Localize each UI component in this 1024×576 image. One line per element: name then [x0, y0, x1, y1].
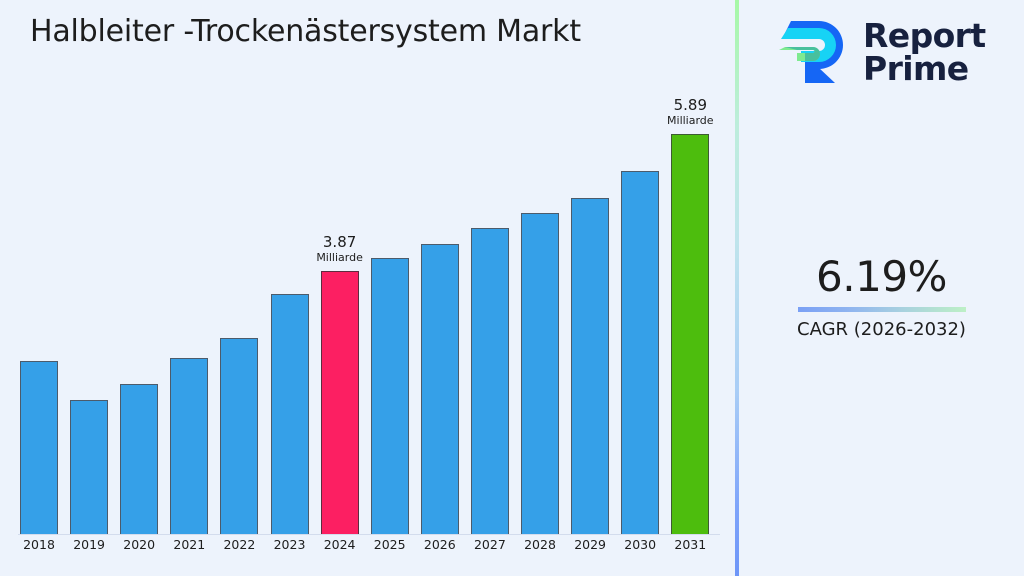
bar-value-callout-2024: 3.87Milliarde [316, 233, 363, 265]
bar-2031[interactable] [671, 134, 709, 534]
bar-unit-2024: Milliarde [316, 251, 363, 265]
bar-2029[interactable] [571, 198, 609, 534]
bar-2027[interactable] [471, 228, 509, 534]
bar-unit-2031: Milliarde [667, 114, 714, 128]
bar-column-2025[interactable] [371, 113, 409, 534]
brand-panel: Report Prime 6.19% CAGR (2026-2032) [739, 0, 1024, 576]
bar-column-2023[interactable] [271, 113, 309, 534]
bar-value-2024: 3.87 [316, 233, 363, 251]
x-tick-2029: 2029 [574, 536, 606, 554]
bar-chart-plot-area: 3.87Milliarde5.89Milliarde [0, 110, 737, 535]
cagr-block: 6.19% CAGR (2026-2032) [739, 252, 1024, 342]
brand-name: Report Prime [863, 19, 986, 85]
bar-2026[interactable] [421, 244, 459, 534]
cagr-label: CAGR (2026-2032) [739, 318, 1024, 342]
x-tick-2023: 2023 [274, 536, 306, 554]
chart-infographic: Halbleiter -Trockenästersystem Markt 3.8… [0, 0, 1024, 576]
bar-column-2028[interactable] [521, 113, 559, 534]
x-tick-2018: 2018 [23, 536, 55, 554]
x-tick-2020: 2020 [123, 536, 155, 554]
bar-value-callout-2031: 5.89Milliarde [667, 96, 714, 128]
x-tick-2025: 2025 [374, 536, 406, 554]
x-tick-2024: 2024 [324, 536, 356, 554]
bar-column-2020[interactable] [120, 113, 158, 534]
x-tick-2028: 2028 [524, 536, 556, 554]
bar-value-2031: 5.89 [667, 96, 714, 114]
report-prime-r-mark-icon [775, 15, 851, 89]
bar-2024[interactable] [321, 271, 359, 534]
cagr-value: 6.19% [739, 252, 1024, 302]
brand-logo: Report Prime [775, 10, 1005, 94]
bar-column-2019[interactable] [70, 113, 108, 534]
bar-column-2031[interactable]: 5.89Milliarde [671, 113, 709, 534]
bar-2030[interactable] [621, 171, 659, 534]
bar-column-2021[interactable] [170, 113, 208, 534]
page-title: Halbleiter -Trockenästersystem Markt [30, 12, 581, 52]
chart-panel: Halbleiter -Trockenästersystem Markt 3.8… [0, 0, 737, 576]
cagr-divider-rule [798, 307, 966, 312]
x-tick-2030: 2030 [624, 536, 656, 554]
x-tick-2019: 2019 [73, 536, 105, 554]
bar-column-2030[interactable] [621, 113, 659, 534]
bar-2022[interactable] [220, 338, 258, 534]
x-tick-2026: 2026 [424, 536, 456, 554]
bar-2021[interactable] [170, 358, 208, 534]
bar-2023[interactable] [271, 294, 309, 534]
bar-column-2029[interactable] [571, 113, 609, 534]
bar-column-2026[interactable] [421, 113, 459, 534]
bar-column-2027[interactable] [471, 113, 509, 534]
x-tick-2021: 2021 [173, 536, 205, 554]
bar-2018[interactable] [20, 361, 58, 534]
bar-column-2022[interactable] [220, 113, 258, 534]
bar-column-2024[interactable]: 3.87Milliarde [321, 113, 359, 534]
bar-2025[interactable] [371, 258, 409, 534]
bar-column-2018[interactable] [20, 113, 58, 534]
x-axis-tick-labels: 2018201920202021202220232024202520262027… [0, 536, 737, 566]
x-tick-2031: 2031 [674, 536, 706, 554]
bar-2028[interactable] [521, 213, 559, 534]
x-tick-2022: 2022 [223, 536, 255, 554]
x-tick-2027: 2027 [474, 536, 506, 554]
x-axis-baseline [18, 534, 720, 535]
bar-2020[interactable] [120, 384, 158, 534]
bar-2019[interactable] [70, 400, 108, 534]
brand-name-line2: Prime [863, 49, 969, 88]
